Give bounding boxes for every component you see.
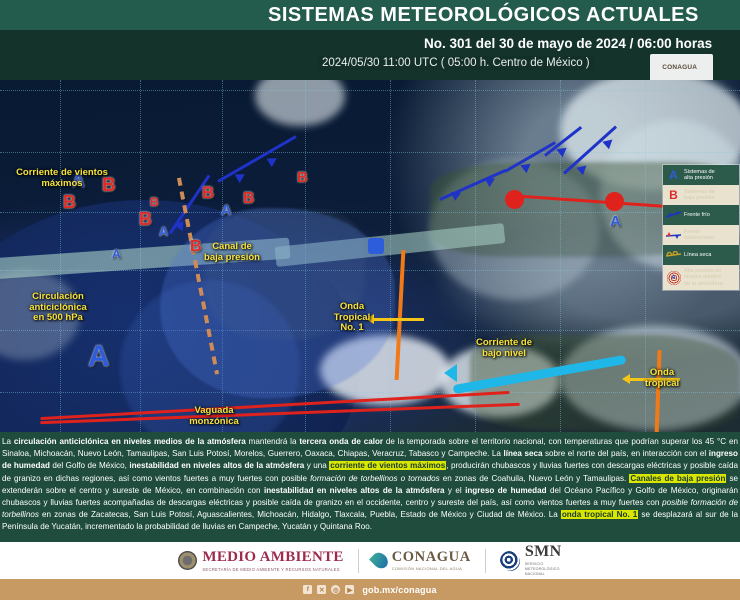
instagram-icon[interactable]: ◎ [331, 585, 340, 594]
low-pressure-box-yucatan [368, 238, 384, 254]
low-pressure-marker-4: B [150, 196, 159, 208]
discussion-paragraph: La circulación anticiclónica en niveles … [0, 436, 740, 534]
low-pressure-channel-label: Canal debaja presión [204, 242, 260, 263]
jet-stream-label: Corriente de vientosmáximos [16, 168, 108, 189]
legend-label-dry-line: Línea seca [684, 252, 711, 258]
legend-label-high-pressure: Sistemas dealta presión [684, 169, 715, 182]
grid-line-lon-5 [390, 80, 391, 432]
grid-line-lat-6 [0, 392, 740, 393]
satellite-weather-map[interactable]: ABBBBABABBAAAB Corriente de vientosmáxim… [0, 80, 740, 432]
high-pressure-marker-5: A [159, 225, 168, 238]
footer-logos-bar: MEDIO AMBIENTE SECRETARÍA DE MEDIO AMBIE… [0, 542, 740, 579]
cloud-mass-nw [255, 80, 345, 126]
header-conagua-label: CONAGUA [662, 64, 697, 71]
legend-item-high-pressure-mid: A Alta presión enniveles mediosde la atm… [663, 265, 739, 290]
tropical-wave-label: Ondatropical [645, 368, 679, 389]
logo-conagua: CONAGUA COMISIÓN NACIONAL DEL AGUA [373, 550, 471, 572]
medio-ambiente-title: MEDIO AMBIENTE [202, 550, 343, 565]
page-title: SISTEMAS METEOROLÓGICOS ACTUALES [268, 4, 699, 27]
letter-b-icon: B [666, 188, 681, 202]
x-twitter-icon[interactable]: ✕ [317, 585, 326, 594]
grid-line-lon-6 [475, 80, 476, 432]
bulletin-issue-line: No. 301 del 30 de mayo de 2024 / 06:00 h… [424, 36, 712, 51]
footer-divider-2 [485, 549, 486, 573]
footer-divider-1 [358, 549, 359, 573]
grid-line-lat-1 [0, 90, 740, 91]
map-legend[interactable]: A Sistemas dealta presión B Sistemas deb… [662, 164, 740, 291]
mexican-eagle-icon [178, 551, 197, 570]
cold-front-barb-7 [235, 170, 248, 183]
grid-line-lat-3 [0, 212, 740, 213]
logo-smn: SMN SERVICIOMETEOROLÓGICONACIONAL [500, 544, 562, 577]
low-pressure-marker-9: B [190, 239, 202, 255]
smn-spiral-icon [500, 551, 520, 571]
low-level-jet-label: Corriente debajo nivel [476, 338, 532, 359]
cold-front-barb-8 [267, 154, 280, 167]
anticyclonic-circulation-label: Circulaciónanticiclónicaen 500 hPa [29, 292, 87, 324]
stationary-front-bump-2 [605, 192, 624, 211]
facebook-icon[interactable]: f [303, 585, 312, 594]
water-drop-icon [373, 551, 387, 570]
weather-bulletin-page: SISTEMAS METEOROLÓGICOS ACTUALES No. 301… [0, 0, 740, 600]
letter-a-icon: A [666, 168, 681, 182]
high-pressure-mid-levels-icon: A [666, 271, 681, 285]
legend-item-high-pressure: A Sistemas dealta presión [663, 165, 739, 185]
legend-label-stationary-front: Frenteestacionario [684, 229, 714, 242]
logo-medio-ambiente: MEDIO AMBIENTE SECRETARÍA DE MEDIO AMBIE… [178, 550, 343, 572]
high-pressure-marker-11: A [88, 342, 110, 372]
low-pressure-marker-3: B [139, 210, 152, 228]
stationary-front-icon [666, 231, 681, 240]
monsoon-trough-label: Vaguadamonzónica [189, 406, 239, 427]
low-level-jet-arrowhead [444, 364, 457, 382]
dry-line-icon [666, 251, 681, 259]
low-pressure-marker-13: B [297, 170, 308, 185]
tropical-wave-1-arrow-shaft [372, 318, 424, 321]
tropical-wave-arrowhead [622, 374, 630, 384]
high-pressure-marker-7: A [221, 203, 232, 218]
stationary-front-bump-1 [505, 190, 524, 209]
low-pressure-marker-2: B [63, 193, 76, 211]
grid-line-lon-7 [560, 80, 561, 432]
conagua-title: CONAGUA [392, 550, 471, 565]
legend-item-low-pressure: B Sistemas debaja presión [663, 185, 739, 205]
weather-discussion-text: La circulación anticiclónica en niveles … [0, 432, 740, 542]
legend-label-high-pressure-mid: Alta presión enniveles mediosde la atmós… [684, 268, 723, 287]
legend-label-low-pressure: Sistemas debaja presión [684, 189, 715, 202]
legend-label-cold-front: Frente frío [684, 212, 710, 218]
grid-line-lat-2 [0, 152, 740, 153]
cold-front-segment-5 [217, 135, 296, 183]
youtube-icon[interactable]: ▶ [345, 585, 354, 594]
footer-url-bar: f ✕ ◎ ▶ gob.mx/conagua [0, 579, 740, 600]
high-pressure-marker-12: A [610, 214, 621, 229]
tropical-wave-1-label: OndaTropicalNo. 1 [334, 302, 370, 334]
bulletin-utc-time: 2024/05/30 11:00 UTC ( 05:00 h. Centro d… [318, 56, 594, 70]
smn-subtitle: SERVICIOMETEOROLÓGICONACIONAL [525, 562, 562, 577]
legend-item-dry-line: Línea seca [663, 245, 739, 265]
conagua-subtitle: COMISIÓN NACIONAL DEL AGUA [392, 566, 471, 571]
legend-item-cold-front: Frente frío [663, 205, 739, 225]
low-pressure-marker-6: B [202, 184, 214, 201]
low-pressure-marker-8: B [243, 191, 255, 207]
legend-item-stationary-front: Frenteestacionario [663, 225, 739, 245]
cold-front-icon [666, 211, 681, 219]
footer-website-url[interactable]: gob.mx/conagua [362, 585, 436, 595]
smn-title: SMN [525, 544, 562, 560]
medio-ambiente-subtitle: SECRETARÍA DE MEDIO AMBIENTE Y RECURSOS … [202, 567, 343, 572]
high-pressure-marker-10: A [112, 248, 121, 260]
